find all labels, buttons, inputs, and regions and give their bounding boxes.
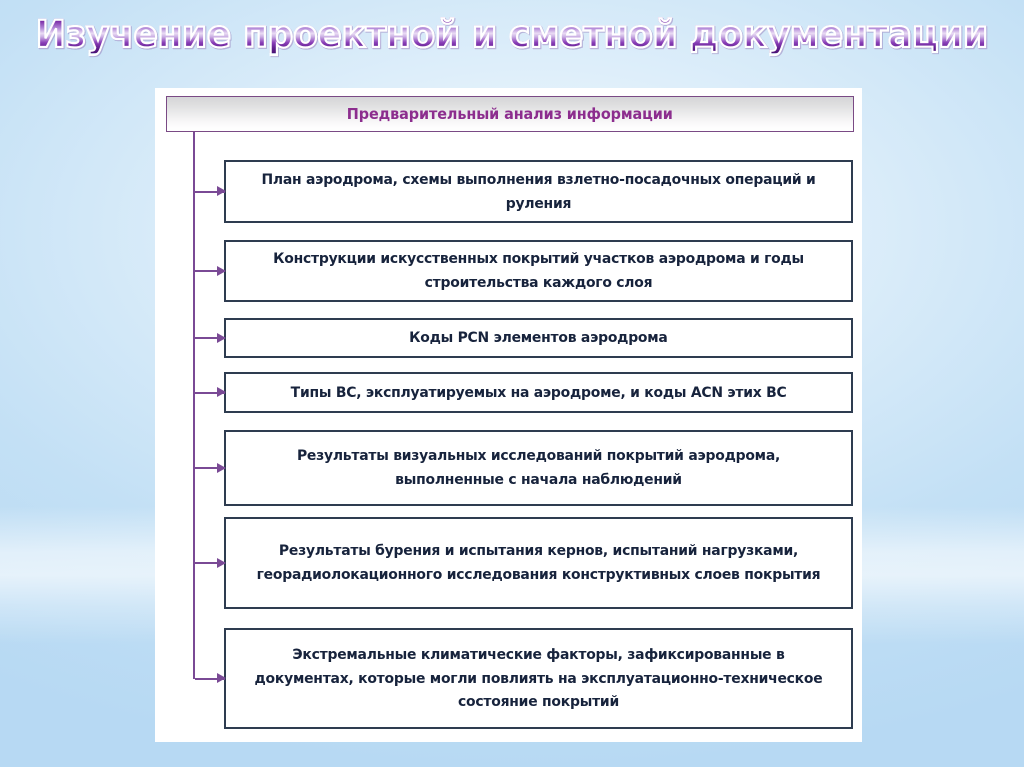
arrow-right-icon [195,337,225,339]
node-box[interactable]: Конструкции искусственных покрытий участ… [224,240,853,302]
node-box[interactable]: Результаты бурения и испытания кернов, и… [224,517,853,609]
arrow-right-icon [195,270,225,272]
root-node-label: Предварительный анализ информации [347,105,673,123]
title-container: Изучение проектной и сметной документаци… [0,16,1024,53]
node-box[interactable]: Результаты визуальных исследований покры… [224,430,853,506]
arrow-right-icon [195,562,225,564]
node-box[interactable]: План аэродрома, схемы выполнения взлетно… [224,160,853,223]
node-box[interactable]: Типы ВС, эксплуатируемых на аэродроме, и… [224,372,853,413]
node-label: Экстремальные климатические факторы, заф… [253,643,823,714]
node-label: Результаты визуальных исследований покры… [253,444,823,491]
node-label: Коды PCN элементов аэродрома [409,326,668,350]
node-label: План аэродрома, схемы выполнения взлетно… [253,168,823,215]
root-node[interactable]: Предварительный анализ информации [166,96,854,132]
node-label: Типы ВС, эксплуатируемых на аэродроме, и… [291,381,787,405]
arrow-right-icon [195,467,225,469]
node-box[interactable]: Экстремальные климатические факторы, заф… [224,628,853,729]
node-label: Конструкции искусственных покрытий участ… [253,247,823,294]
diagram-panel: Предварительный анализ информации План а… [155,88,862,742]
node-label: Результаты бурения и испытания кернов, и… [253,539,823,586]
page-title: Изучение проектной и сметной документаци… [36,16,988,53]
arrow-right-icon [195,191,225,193]
connector-spine [193,132,195,679]
node-box[interactable]: Коды PCN элементов аэродрома [224,318,853,358]
arrow-right-icon [195,392,225,394]
arrow-right-icon [195,678,225,680]
slide-canvas: Изучение проектной и сметной документаци… [0,0,1024,767]
